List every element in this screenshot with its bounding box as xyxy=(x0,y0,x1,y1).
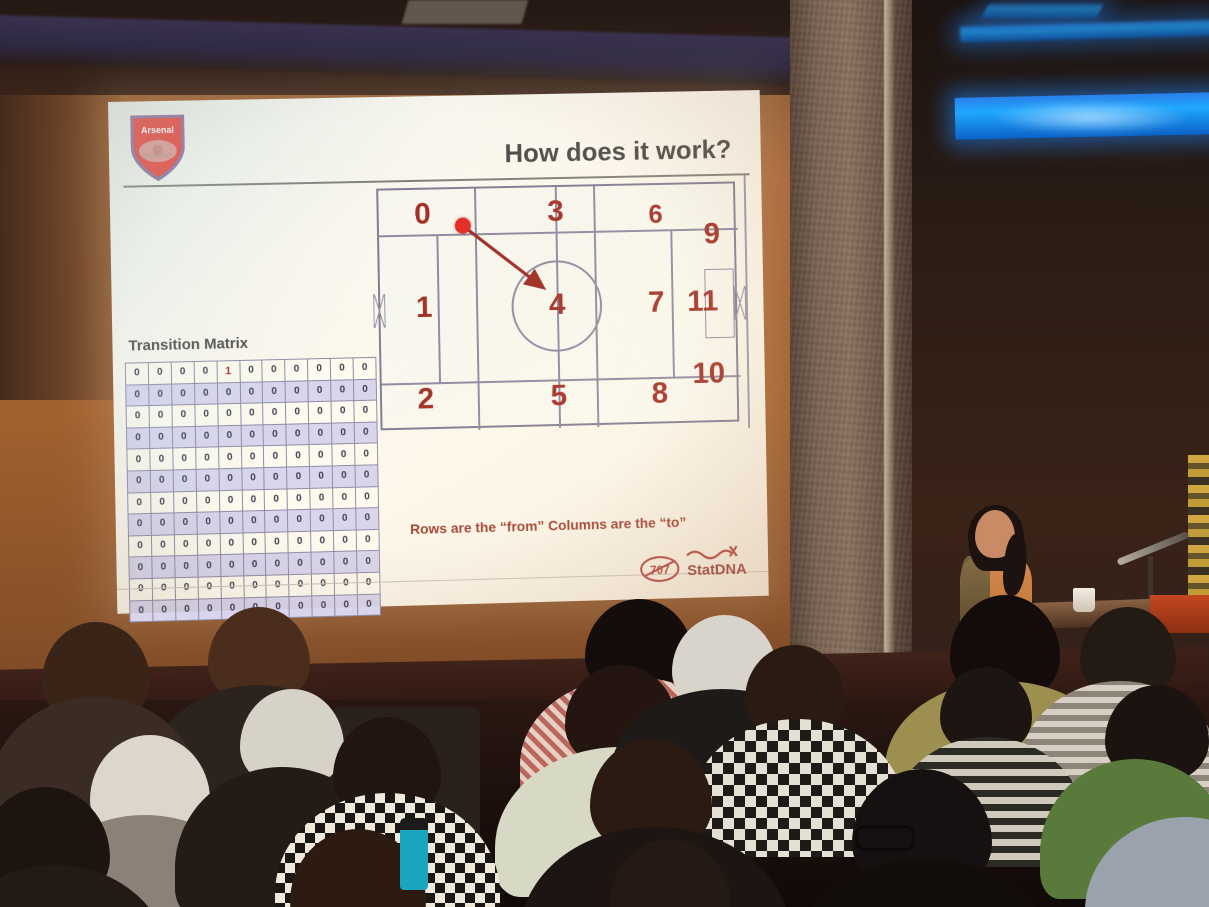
matrix-cell: 0 xyxy=(128,492,151,514)
matrix-cell: 0 xyxy=(197,512,220,534)
matrix-cell: 0 xyxy=(194,361,217,383)
matrix-cell: 0 xyxy=(264,446,287,468)
pass-arrow-icon xyxy=(456,216,586,328)
matrix-cell: 0 xyxy=(217,404,240,426)
matrix-cell: 0 xyxy=(172,405,195,427)
matrix-cell: 0 xyxy=(242,511,265,533)
matrix-cell: 0 xyxy=(288,552,311,574)
matrix-cell: 0 xyxy=(356,508,379,530)
matrix-cell: 0 xyxy=(194,383,217,405)
matrix-cell: 0 xyxy=(311,530,334,552)
matrix-cell: 0 xyxy=(286,402,309,424)
matrix-cell: 0 xyxy=(174,534,197,556)
matrix-cell: 0 xyxy=(354,400,377,422)
matrix-cell: 0 xyxy=(355,465,378,487)
matrix-cell: 0 xyxy=(125,363,148,385)
matrix-cell: 0 xyxy=(288,509,311,531)
matrix-cell: 0 xyxy=(150,470,173,492)
matrix-cell: 0 xyxy=(220,533,243,555)
pitch-line-box-right xyxy=(670,229,674,377)
matrix-cell: 0 xyxy=(265,532,288,554)
matrix-cell: 0 xyxy=(333,487,356,509)
matrix-cell-highlighted: 1 xyxy=(217,360,240,382)
matrix-cell: 0 xyxy=(285,359,308,381)
matrix-cell: 0 xyxy=(151,513,174,535)
pitch-diagram: 01234567891011 xyxy=(376,181,739,430)
matrix-cell: 0 xyxy=(218,425,241,447)
led-glow xyxy=(990,100,1190,134)
pitch-zone-2: 2 xyxy=(417,384,434,414)
matrix-cell: 0 xyxy=(330,358,353,380)
matrix-cell: 0 xyxy=(151,535,174,557)
matrix-cell: 0 xyxy=(309,423,332,445)
matrix-cell: 0 xyxy=(243,532,266,554)
matrix-cell: 0 xyxy=(311,552,334,574)
matrix-cell: 0 xyxy=(308,380,331,402)
water-bottle xyxy=(400,818,428,890)
eyeglasses-icon xyxy=(855,825,915,851)
matrix-cell: 0 xyxy=(308,401,331,423)
matrix-cell: 0 xyxy=(239,360,262,382)
matrix-cell: 0 xyxy=(220,554,243,576)
matrix-cell: 0 xyxy=(286,423,309,445)
matrix-cell: 0 xyxy=(150,448,173,470)
matrix-cell: 0 xyxy=(241,468,264,490)
matrix-cell: 0 xyxy=(197,533,220,555)
matrix-cell: 0 xyxy=(149,427,172,449)
svg-text:Arsenal: Arsenal xyxy=(141,125,174,136)
matrix-cell: 0 xyxy=(126,406,149,428)
matrix-cell: 0 xyxy=(218,447,241,469)
matrix-cell: 0 xyxy=(242,489,265,511)
matrix-cell: 0 xyxy=(331,379,354,401)
matrix-cell: 0 xyxy=(308,358,331,380)
matrix-cell: 0 xyxy=(148,362,171,384)
goal-net-right xyxy=(734,286,746,320)
matrix-cell: 0 xyxy=(355,486,378,508)
matrix-cell: 0 xyxy=(171,362,194,384)
matrix-cell: 0 xyxy=(243,554,266,576)
matrix-cell: 0 xyxy=(127,470,150,492)
matrix-cell: 0 xyxy=(333,508,356,530)
matrix-cell: 0 xyxy=(175,556,198,578)
equipment-rack-lights xyxy=(1188,455,1209,595)
matrix-cell: 0 xyxy=(332,444,355,466)
matrix-cell: 0 xyxy=(149,384,172,406)
matrix-cell: 0 xyxy=(240,381,263,403)
pitch-zone-5: 5 xyxy=(550,381,567,411)
matrix-cell: 0 xyxy=(152,556,175,578)
matrix-cell: 0 xyxy=(353,379,376,401)
matrix-cell: 0 xyxy=(174,512,197,534)
matrix-cell: 0 xyxy=(128,514,151,536)
matrix-cell: 0 xyxy=(195,447,218,469)
pitch-zone-3: 3 xyxy=(547,197,564,227)
audience xyxy=(0,577,1209,907)
matrix-cell: 0 xyxy=(262,359,285,381)
matrix-cell: 0 xyxy=(287,488,310,510)
matrix-cell: 0 xyxy=(266,553,289,575)
arsenal-crest-icon: Arsenal xyxy=(126,111,189,184)
matrix-cell: 0 xyxy=(149,405,172,427)
matrix-cell: 0 xyxy=(310,509,333,531)
goal-net-left xyxy=(373,294,385,328)
pitch-zone-6: 6 xyxy=(648,201,663,227)
matrix-cell: 0 xyxy=(263,381,286,403)
matrix-cell: 0 xyxy=(173,448,196,470)
matrix-cell: 0 xyxy=(265,489,288,511)
matrix-cell: 0 xyxy=(353,357,376,379)
matrix-cell: 0 xyxy=(331,401,354,423)
matrix-cell: 0 xyxy=(287,445,310,467)
matrix-cell: 0 xyxy=(263,402,286,424)
matrix-cell: 0 xyxy=(264,467,287,489)
matrix-cell: 0 xyxy=(355,443,378,465)
slide-footnote: Rows are the “from” Columns are the “to” xyxy=(410,514,686,537)
matrix-cell: 0 xyxy=(240,403,263,425)
matrix-cell: 0 xyxy=(309,444,332,466)
matrix-cell: 0 xyxy=(332,422,355,444)
ceiling-light-panel xyxy=(402,0,529,24)
matrix-cell: 0 xyxy=(334,530,357,552)
matrix-cell: 0 xyxy=(128,535,151,557)
matrix-cell: 0 xyxy=(265,510,288,532)
matrix-cell: 0 xyxy=(171,383,194,405)
matrix-cell: 0 xyxy=(173,491,196,513)
matrix-cell: 0 xyxy=(357,551,380,573)
matrix-cell: 0 xyxy=(197,555,220,577)
matrix-cell: 0 xyxy=(219,511,242,533)
matrix-cell: 0 xyxy=(219,490,242,512)
pitch-zone-7: 7 xyxy=(648,288,665,318)
pitch-zone-0: 0 xyxy=(414,199,431,229)
matrix-cell: 0 xyxy=(334,551,357,573)
pitch-zone-8: 8 xyxy=(651,379,668,409)
matrix-cell: 0 xyxy=(310,466,333,488)
matrix-cell: 0 xyxy=(356,529,379,551)
led-light-strip-ceiling xyxy=(981,4,1103,18)
matrix-cell: 0 xyxy=(172,426,195,448)
matrix-cell: 0 xyxy=(310,487,333,509)
pitch-zone-9: 9 xyxy=(703,219,720,249)
matrix-cell: 0 xyxy=(127,449,150,471)
matrix-cell: 0 xyxy=(354,422,377,444)
transition-matrix-label: Transition Matrix xyxy=(128,335,248,355)
matrix-cell: 0 xyxy=(241,446,264,468)
matrix-cell: 0 xyxy=(196,469,219,491)
matrix-cell: 0 xyxy=(219,468,242,490)
matrix-cell: 0 xyxy=(241,425,264,447)
matrix-cell: 0 xyxy=(288,531,311,553)
pitch-line-box-left xyxy=(436,234,440,383)
pitch-zone-10: 10 xyxy=(692,359,725,389)
slide-surface: Arsenal How does it work? Transition Mat… xyxy=(108,90,769,614)
matrix-cell: 0 xyxy=(217,382,240,404)
pitch-zone-4: 4 xyxy=(549,290,566,320)
photo-scene: Arsenal How does it work? Transition Mat… xyxy=(0,0,1209,907)
matrix-cell: 0 xyxy=(126,384,149,406)
pitch-zone-11: 11 xyxy=(687,287,719,317)
matrix-cell: 0 xyxy=(126,427,149,449)
projection-screen: Arsenal How does it work? Transition Mat… xyxy=(108,90,769,614)
matrix-cell: 0 xyxy=(195,426,218,448)
matrix-cell: 0 xyxy=(263,424,286,446)
matrix-cell: 0 xyxy=(195,404,218,426)
pitch-zone-1: 1 xyxy=(416,293,433,323)
matrix-cell: 0 xyxy=(151,491,174,513)
matrix-cell: 0 xyxy=(173,469,196,491)
matrix-cell: 0 xyxy=(196,490,219,512)
matrix-cell: 0 xyxy=(332,465,355,487)
matrix-cell: 0 xyxy=(285,380,308,402)
matrix-cell: 0 xyxy=(129,557,152,579)
page-title: How does it work? xyxy=(504,134,731,169)
matrix-cell: 0 xyxy=(287,466,310,488)
